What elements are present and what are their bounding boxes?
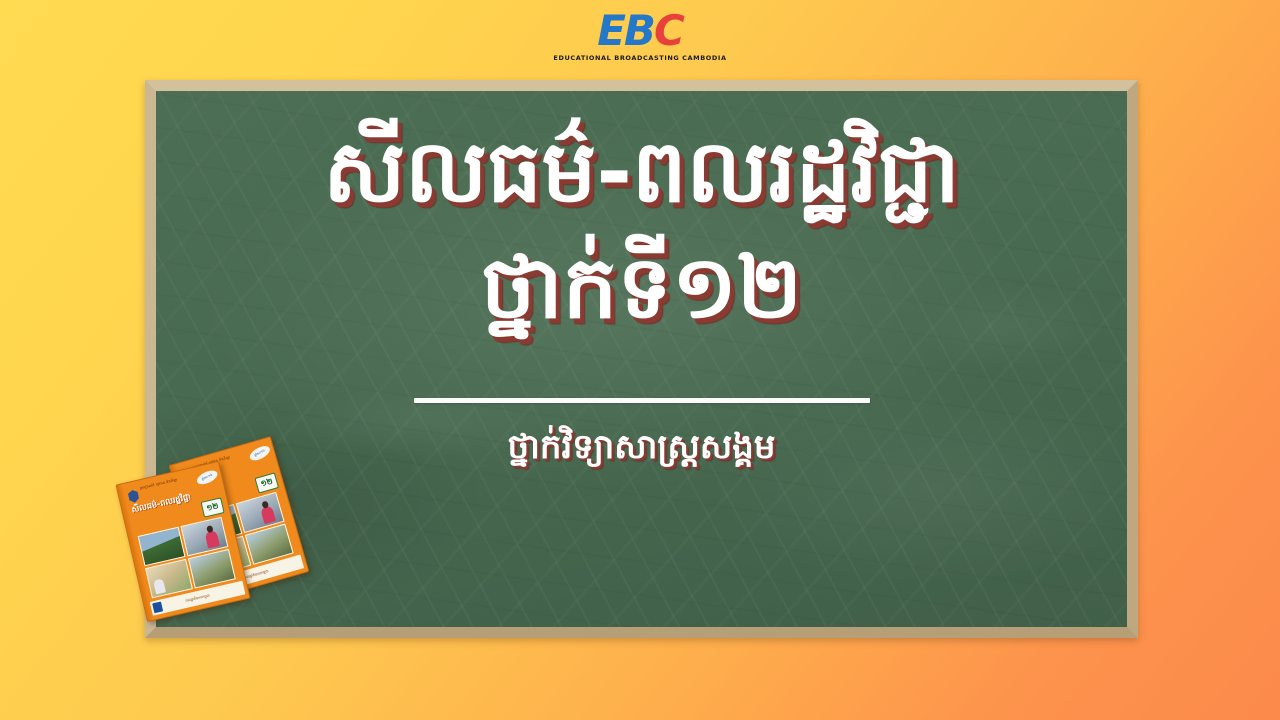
title-divider [414, 398, 870, 403]
page-title-line-1: សីលធម៌-ពលរដ្ឋវិជ្ជា [323, 119, 959, 227]
collage-figure-icon [153, 579, 166, 595]
ebc-logo-tagline: EDUCATIONAL BROADCASTING CAMBODIA [0, 55, 1280, 62]
ebc-logo: EBC EDUCATIONAL BROADCASTING CAMBODIA [0, 10, 1280, 62]
collage-photo-4 [188, 549, 236, 589]
ministry-crest-icon [127, 489, 140, 504]
ebc-logo-letter-c: C [654, 6, 683, 55]
collage-photo-3 [145, 559, 193, 599]
book-footer-badge-icon [152, 602, 163, 614]
collage-figure-icon [204, 530, 219, 549]
page-title-line-2: ថ្នាក់ទី១២ [481, 235, 802, 343]
ebc-logo-wordmark: EBC [597, 10, 683, 52]
collage-figure-icon [260, 506, 276, 525]
page-subtitle: ថ្នាក់វិទ្យាសាស្ត្រសង្គម [508, 425, 776, 469]
book-header-text: ក្រសួងអប់រំ យុវជន និងកីឡា [139, 478, 178, 492]
slide-canvas: EBC EDUCATIONAL BROADCASTING CAMBODIA សី… [0, 0, 1280, 720]
ebc-logo-letter-e: E [597, 6, 624, 55]
textbook-stack: ក្រសួងអប់រំ យុវជន និងកីឡា ឆ្នាំ២០១៦ ពលរដ… [112, 440, 322, 640]
book-grade-badge: ១២ [201, 497, 225, 517]
ebc-logo-letter-b: B [624, 6, 654, 55]
